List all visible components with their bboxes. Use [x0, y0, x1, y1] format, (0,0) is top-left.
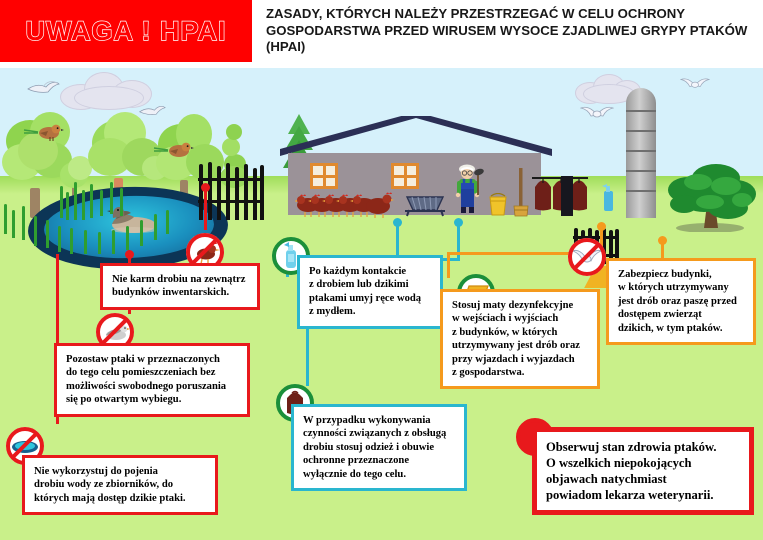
- barn-roof: [280, 116, 552, 156]
- tip-line: budynków inwentarskich.: [112, 286, 248, 299]
- broom-icon: [513, 168, 529, 223]
- tip-line: z drobiem lub dzikimi: [309, 278, 431, 291]
- connector-dot: [454, 218, 463, 227]
- tip-line: Nie wykorzystuj do pojenia: [34, 465, 206, 478]
- tip-monitor-health: Obserwuj stan zdrowia ptaków. O wszelkic…: [532, 427, 754, 515]
- farmer-worker: [451, 163, 485, 220]
- tip-line: dostępem zwierząt: [618, 308, 744, 321]
- tip-no-outdoor-feeding: Nie karm drobiu na zewnątrz budynków inw…: [100, 263, 260, 310]
- tip-line: ochronne przeznaczone: [303, 454, 455, 467]
- tip-line: wyłącznie do tego celu.: [303, 468, 455, 481]
- no-wild-birds-icon: [568, 238, 606, 276]
- tip-line: z budynków, w których: [452, 326, 588, 339]
- flying-bird-icon: [580, 104, 614, 122]
- barn-window: [310, 163, 338, 189]
- tip-line: czynności związanych z obsługą: [303, 427, 455, 440]
- protective-aprons: [532, 175, 588, 222]
- tip-line: Po każdym kontakcie: [309, 265, 431, 278]
- tip-line: możliwości swobodnego poruszania: [66, 380, 238, 393]
- feed-trough: [404, 195, 446, 222]
- banner-label: UWAGA ! HPAI: [26, 16, 227, 47]
- tip-line: Nie karm drobiu na zewnątrz: [112, 273, 248, 286]
- grain-silo: [626, 88, 656, 218]
- tip-line: utrzymywany jest drób oraz: [452, 339, 588, 352]
- connector-dot: [125, 250, 134, 259]
- flying-bird-icon: [138, 104, 166, 120]
- spray-bottle-icon: [601, 183, 615, 218]
- infographic-page: UWAGA ! HPAI ZASADY, KTÓRYCH NALEŻY PRZE…: [0, 0, 763, 540]
- tip-line: których mają dostęp dzikie ptaki.: [34, 492, 206, 505]
- tip-line: objawach natychmiast: [546, 471, 740, 487]
- connector-dot: [597, 222, 606, 231]
- tip-line: w wejściach i wyjściach: [452, 312, 588, 325]
- tip-line: przy wjazdach i wyjazdach: [452, 353, 588, 366]
- page-title: ZASADY, KTÓRYCH NALEŻY PRZESTRZEGAĆ W CE…: [266, 6, 758, 56]
- bucket-icon: [488, 193, 508, 222]
- connector-dot: [201, 183, 210, 192]
- tip-line: Zabezpiecz budynki,: [618, 268, 744, 281]
- tip-line: dzikich, w tym ptaków.: [618, 322, 744, 335]
- barn-window: [391, 163, 419, 189]
- flying-bird-icon: [680, 76, 710, 92]
- tip-wash-hands: Po każdym kontakcie z drobiem lub dzikim…: [297, 255, 443, 329]
- wild-bird-icon: [152, 140, 194, 167]
- tip-line: z mydłem.: [309, 305, 431, 318]
- tip-secure-buildings: Zabezpiecz budynki, w których utrzymywan…: [606, 258, 756, 345]
- large-tree-right: [658, 156, 756, 237]
- wild-bird-icon: [22, 122, 64, 149]
- tip-line: powiadom lekarza weterynarii.: [546, 487, 740, 503]
- tip-line: W przypadku wykonywania: [303, 414, 455, 427]
- tip-line: Obserwuj stan zdrowia ptaków.: [546, 439, 740, 455]
- barn-doorway: [561, 176, 573, 216]
- tip-line: drobiu wody ze zbiorników, do: [34, 478, 206, 491]
- tip-disinfection-mats: Stosuj maty dezynfekcyjne w wejściach i …: [440, 289, 600, 389]
- tip-keep-birds-indoors: Pozostaw ptaki w przeznaczonych do tego …: [54, 343, 250, 417]
- connector-dot: [393, 218, 402, 227]
- tip-no-surface-water: Nie wykorzystuj do pojenia drobiu wody z…: [22, 455, 218, 515]
- warning-banner: UWAGA ! HPAI: [0, 0, 252, 62]
- connector-dot: [658, 236, 667, 245]
- tip-line: jest drób oraz paszę przed: [618, 295, 744, 308]
- tip-line: się po otwartym wybiegu.: [66, 393, 238, 406]
- tip-line: w których utrzymywany: [618, 281, 744, 294]
- connector-wash-hands: [396, 222, 399, 258]
- tip-line: Pozostaw ptaki w przeznaczonych: [66, 353, 238, 366]
- connector-mats-drop: [447, 252, 450, 278]
- tip-line: Stosuj maty dezynfekcyjne: [452, 299, 588, 312]
- tip-line: z gospodarstwa.: [452, 366, 588, 379]
- tip-line: do tego celu pomieszczeniach bez: [66, 366, 238, 379]
- tip-protective-clothing: W przypadku wykonywania czynności związa…: [291, 404, 467, 491]
- tip-line: ptakami umyj ręce wodą: [309, 292, 431, 305]
- chickens-group: [295, 192, 395, 223]
- flying-bird-icon: [26, 80, 60, 98]
- tip-line: O wszelkich niepokojących: [546, 455, 740, 471]
- tip-line: drobiu stosuj odzież i obuwie: [303, 441, 455, 454]
- header: UWAGA ! HPAI ZASADY, KTÓRYCH NALEŻY PRZE…: [0, 0, 763, 68]
- connector-no-outdoor-feeding: [204, 188, 207, 230]
